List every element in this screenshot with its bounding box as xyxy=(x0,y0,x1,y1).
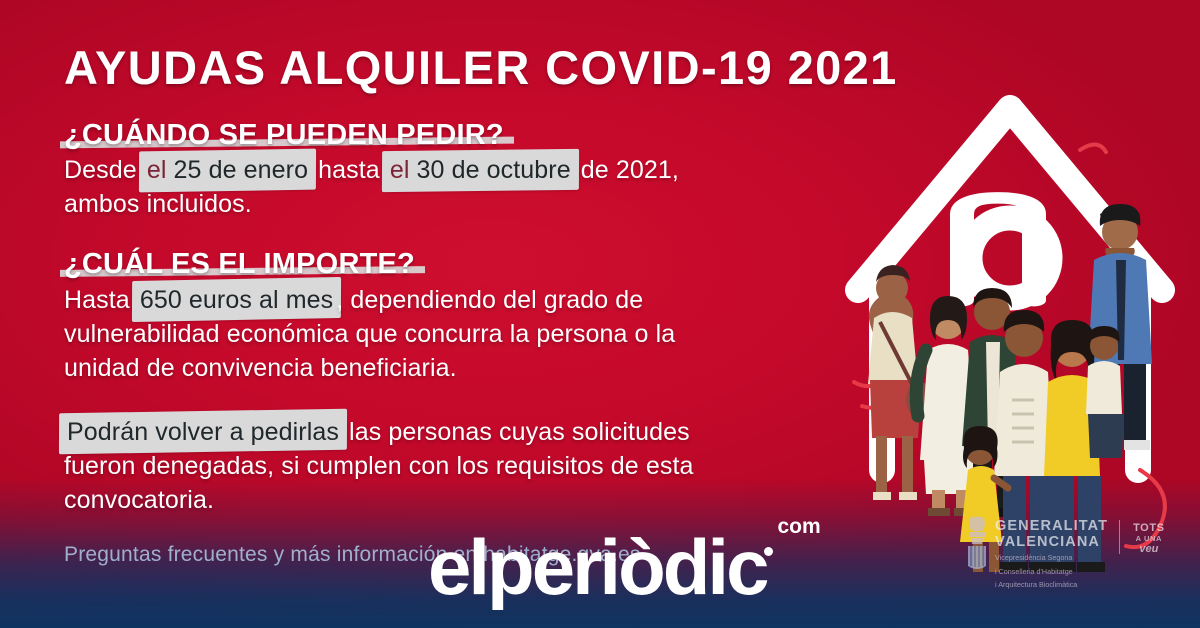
figure-woman-with-bag xyxy=(868,265,934,500)
section-when-line1: Desde el 25 de enero hasta el 30 de octu… xyxy=(64,154,854,188)
section-when-body: Desde el 25 de enero hasta el 30 de octu… xyxy=(64,154,854,222)
section-amount-line2: vulnerabilidad económica que concurra la… xyxy=(64,317,854,351)
section-when-line2: ambos incluidos. xyxy=(64,188,854,222)
section-when: ¿CUÁNDO SE PUEDEN PEDIR? Desde el 25 de … xyxy=(64,119,854,222)
section-amount-line1: Hasta 650 euros al mes, dependiendo del … xyxy=(64,283,854,317)
gva-wordmark: GENERALITAT VALENCIANA Vicepresidència S… xyxy=(995,516,1108,590)
section-reapply-line3: convocatoria. xyxy=(64,483,854,517)
elperiodic-watermark: elperiòdiccom xyxy=(428,528,819,606)
gva-sub1: Vicepresidència Segona xyxy=(995,553,1108,563)
highlight-amount: 650 euros al mes xyxy=(137,283,336,317)
gva-sub3: i Arquitectura Bioclimàtica xyxy=(995,580,1108,590)
section-amount-body: Hasta 650 euros al mes, dependiendo del … xyxy=(64,283,854,385)
gva-sub2: i Conselleria d'Habitatge xyxy=(995,567,1108,577)
highlight-end-date: el 30 de octubre xyxy=(387,154,574,188)
badge-line3: veu xyxy=(1133,543,1165,555)
page-title: AYUDAS ALQUILER COVID-19 2021 xyxy=(64,44,854,93)
tots-a-una-veu-badge: TOTS A UNA veu xyxy=(1133,516,1165,555)
section-amount-heading: ¿CUÁL ES EL IMPORTE? xyxy=(64,248,415,280)
section-reapply-line2: fueron denegadas, si cumplen con los req… xyxy=(64,449,854,483)
section-reapply: Podrán volver a pedirlas las personas cu… xyxy=(64,415,854,517)
section-amount: ¿CUÁL ES EL IMPORTE? Hasta 650 euros al … xyxy=(64,248,854,385)
poster-graphic: AYUDAS ALQUILER COVID-19 2021 ¿CUÁNDO SE… xyxy=(0,0,1200,628)
watermark-dot-icon xyxy=(764,547,773,556)
badge-line2: A UNA xyxy=(1133,534,1165,543)
highlight-start-date: el 25 de enero xyxy=(144,154,311,188)
section-reapply-body: Podrán volver a pedirlas las personas cu… xyxy=(64,415,854,517)
generalitat-valenciana-logo: GENERALITAT VALENCIANA Vicepresidència S… xyxy=(966,516,1165,590)
section-reapply-line1: Podrán volver a pedirlas las personas cu… xyxy=(64,415,854,449)
section-when-heading: ¿CUÁNDO SE PUEDEN PEDIR? xyxy=(64,119,504,151)
gva-line1: GENERALITAT xyxy=(995,519,1108,535)
badge-line1: TOTS xyxy=(1133,522,1165,534)
gva-line2: VALENCIANA xyxy=(995,535,1108,551)
section-amount-line3: unidad de convivencia beneficiaria. xyxy=(64,351,854,385)
watermark-suffix: com xyxy=(777,515,820,538)
highlight-reapply: Podrán volver a pedirlas xyxy=(64,415,342,449)
gva-crest-icon xyxy=(966,516,988,570)
text-column: AYUDAS ALQUILER COVID-19 2021 ¿CUÁNDO SE… xyxy=(64,44,854,567)
logo-divider xyxy=(1119,520,1120,554)
watermark-name: elperiòdic xyxy=(428,523,766,611)
